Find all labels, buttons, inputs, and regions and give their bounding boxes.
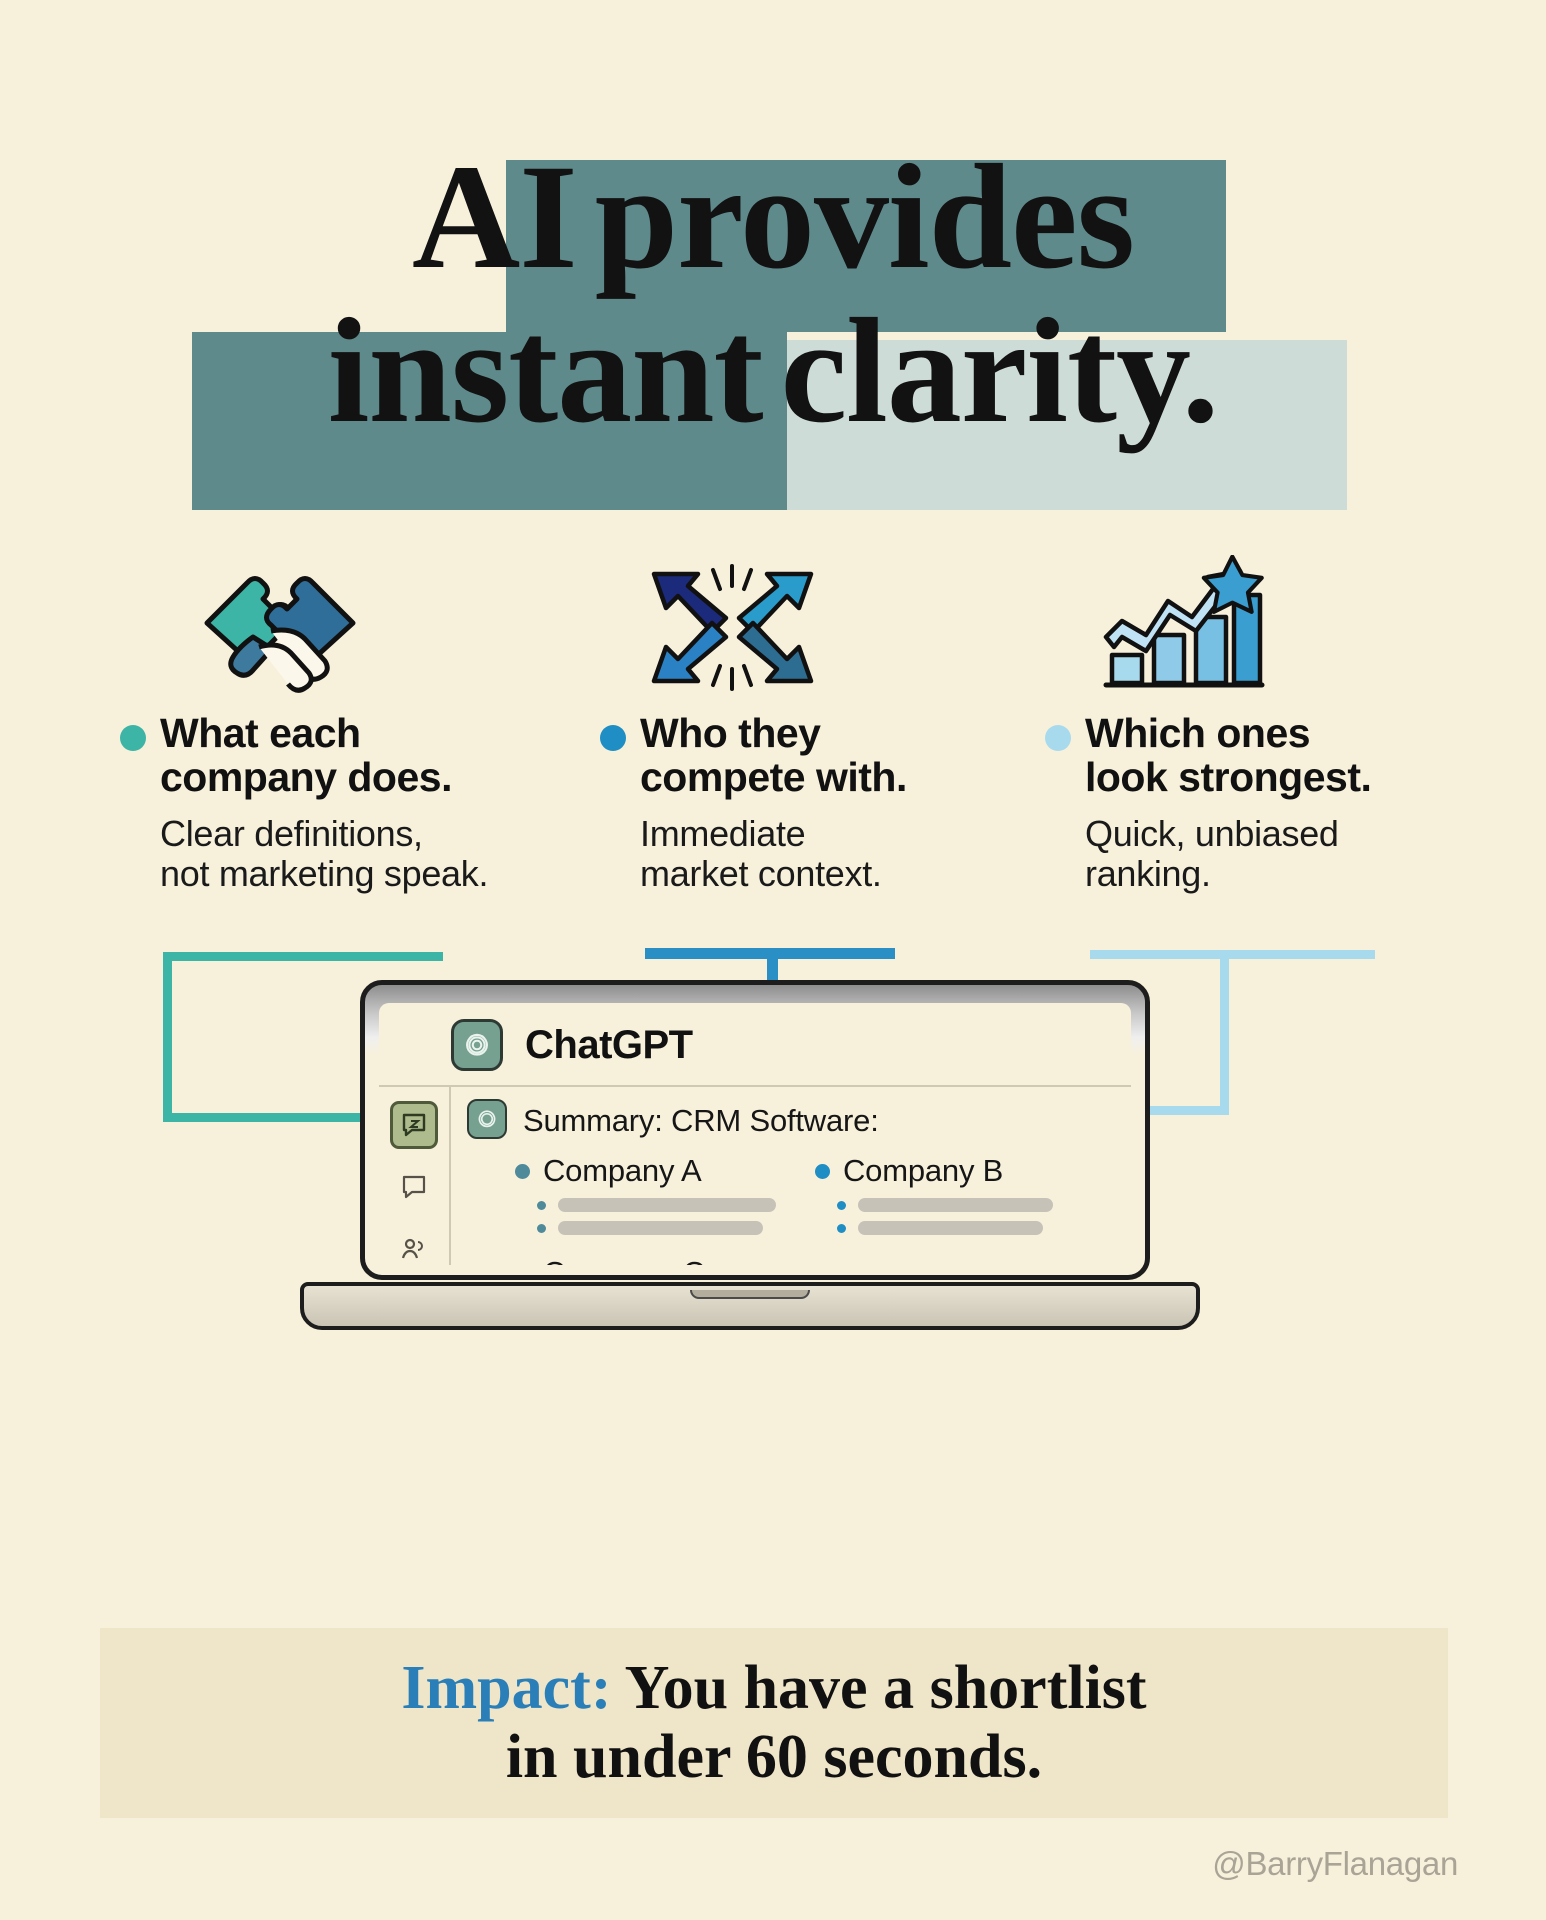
impact-line-1: You have a shortlist: [611, 1654, 1146, 1722]
chat-header: ChatGPT: [379, 1003, 1131, 1085]
app-title: ChatGPT: [525, 1023, 693, 1068]
sidebar-rail: [379, 1087, 451, 1265]
author-handle: @BarryFlanagan: [1212, 1845, 1458, 1883]
message-text: Summary: CRM Software:: [523, 1103, 879, 1139]
list-item: Company A: [515, 1153, 815, 1235]
new-chat-icon[interactable]: [390, 1101, 438, 1149]
list-item: ...: [815, 1255, 1115, 1265]
connector-line-column-1: [163, 952, 443, 961]
bullet-dot: [600, 725, 626, 751]
chatgpt-logo-icon: [451, 1019, 503, 1071]
title-word-ai: AI: [412, 134, 577, 300]
laptop-base: [300, 1282, 1200, 1330]
connector-line-column-1-vertical: [163, 952, 172, 1122]
results-column-left: Company A Company C: [515, 1153, 815, 1265]
connector-line-column-3: [1090, 950, 1375, 959]
benefit-subtext: Clear definitions, not marketing speak.: [160, 814, 550, 895]
result-dot: [515, 1164, 530, 1179]
impact-line-2: in under 60 seconds.: [506, 1723, 1042, 1791]
laptop-illustration: ChatGPT: [300, 980, 1200, 1330]
assistant-message: Summary: CRM Software:: [467, 1099, 1115, 1139]
benefit-headline: Who they compete with.: [640, 711, 907, 800]
list-item: Company C: [515, 1255, 815, 1265]
benefit-column-what-company-does: What each company does. Clear definition…: [120, 545, 550, 894]
converging-arrows-icon: [600, 545, 1000, 695]
benefit-subtext: Immediate market context.: [640, 814, 1000, 895]
impact-text: Impact: You have a shortlist in under 60…: [401, 1654, 1146, 1793]
bullet-dot: [1045, 725, 1071, 751]
results-grid: Company A Company C: [467, 1153, 1115, 1265]
impact-keyword: Impact:: [401, 1654, 611, 1722]
benefit-column-which-strongest: Which ones look strongest. Quick, unbias…: [1045, 545, 1465, 894]
handshake-puzzle-icon: [120, 545, 550, 695]
chatgpt-avatar-icon: [467, 1099, 507, 1139]
page-title: AIprovides instantclarity.: [0, 142, 1546, 446]
benefit-headline: Which ones look strongest.: [1085, 711, 1371, 800]
results-column-right: Company B ...: [815, 1153, 1115, 1265]
benefit-columns: What each company does. Clear definition…: [0, 545, 1546, 875]
laptop-screen: ChatGPT: [379, 1003, 1131, 1265]
benefit-subtext: Quick, unbiased ranking.: [1085, 814, 1465, 895]
people-icon[interactable]: [390, 1225, 438, 1265]
chat-bubble-icon[interactable]: [390, 1163, 438, 1211]
title-word-provides: provides: [595, 134, 1134, 300]
title-word-instant: instant: [328, 288, 763, 454]
bullet-dot: [120, 725, 146, 751]
impact-banner: Impact: You have a shortlist in under 60…: [100, 1628, 1448, 1818]
result-dot: [815, 1164, 830, 1179]
connector-line-column-3-vertical: [1220, 950, 1229, 1115]
benefit-headline: What each company does.: [160, 711, 452, 800]
conversation-panel: Summary: CRM Software: Company A: [451, 1087, 1131, 1265]
benefit-column-who-compete: Who they compete with. Immediate market …: [600, 545, 1000, 894]
title-word-clarity: clarity.: [781, 288, 1219, 454]
growth-chart-star-icon: [1045, 545, 1465, 695]
laptop-notch: [690, 1290, 810, 1299]
laptop-lid: ChatGPT: [360, 980, 1150, 1280]
list-item: Company B: [815, 1153, 1115, 1235]
